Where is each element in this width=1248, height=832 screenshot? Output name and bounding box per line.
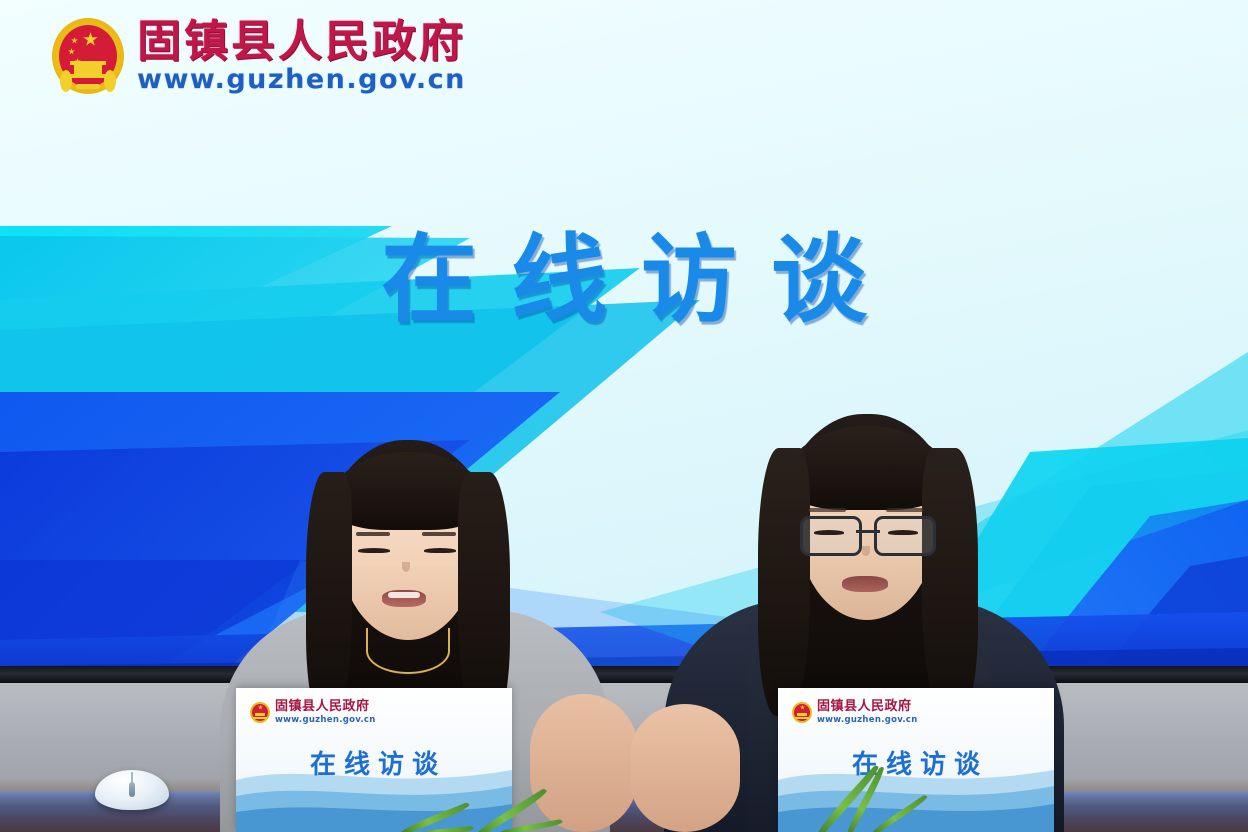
national-emblem-icon xyxy=(52,18,124,94)
nameplate-left-logo: 固镇县人民政府 www.guzhen.gov.cn xyxy=(250,700,376,725)
participant-right-mouth xyxy=(842,576,888,592)
participant-right-brow xyxy=(886,508,924,512)
participant-right-brow xyxy=(808,508,846,512)
participant-left-necklace xyxy=(366,628,450,674)
participant-right-eye xyxy=(814,530,844,535)
participant-left-hair-strand xyxy=(306,472,352,722)
participant-right-eye xyxy=(888,530,918,535)
national-emblem-icon xyxy=(250,702,270,723)
nameplate-left-url: www.guzhen.gov.cn xyxy=(275,716,376,725)
org-website: www.guzhen.gov.cn xyxy=(137,66,466,93)
nameplate-right-org: 固镇县人民政府 xyxy=(817,700,918,714)
computer-mouse[interactable] xyxy=(95,770,169,810)
mouse-scroll-wheel xyxy=(129,782,135,797)
participant-left-eye xyxy=(424,548,456,553)
org-name-cn: 固镇县人民政府 xyxy=(137,20,466,64)
nameplate-right-logo: 固镇县人民政府 www.guzhen.gov.cn xyxy=(792,700,918,725)
participant-left-brow xyxy=(422,532,456,536)
nameplate-left-org: 固镇县人民政府 xyxy=(275,700,376,714)
header-logo: 固镇县人民政府 www.guzhen.gov.cn xyxy=(52,18,466,94)
participant-right-nose xyxy=(862,546,870,556)
potted-plant-leaves xyxy=(810,752,1070,832)
participant-left-teeth xyxy=(388,592,420,598)
participant-right-hair-strand xyxy=(758,448,810,716)
page-title: 在线访谈 xyxy=(0,228,1248,334)
participant-left-eye xyxy=(358,548,390,553)
participant-right-hair-strand xyxy=(922,448,978,720)
nameplate-right-url: www.guzhen.gov.cn xyxy=(817,716,918,725)
participant-left-nose xyxy=(402,562,410,572)
video-frame: 固镇县人民政府 www.guzhen.gov.cn 在线访谈 xyxy=(0,0,1248,832)
potted-plant-leaves xyxy=(380,772,720,832)
national-emblem-icon xyxy=(792,702,812,723)
participant-left-brow xyxy=(356,532,390,536)
